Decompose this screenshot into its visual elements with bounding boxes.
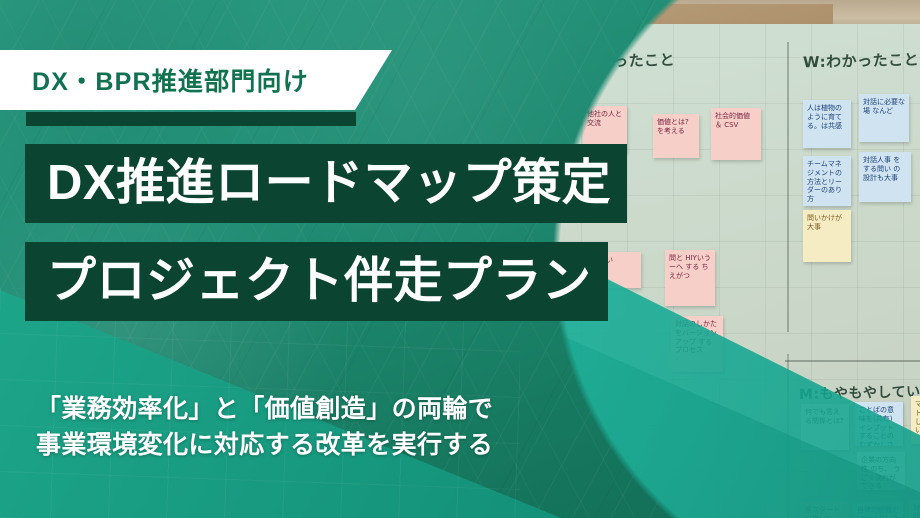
- sticky-note: 問と HIYいうーへ する ちえがつ: [665, 250, 715, 306]
- subtitle: 「業務効率化」と「価値創造」の両輪で 事業環境変化に対応する改革を実行する: [36, 392, 493, 463]
- sticky-note: 何でも言える関係とは?: [801, 404, 849, 450]
- board-section-header-m: M:もやもやしていること: [799, 380, 920, 404]
- title-line2: プロジェクト伴走プラン: [25, 257, 608, 306]
- sticky-note: チームマネジメントの方法とリーダーのあり方: [803, 156, 851, 206]
- sticky-note: 社会的価値 ＆ CSV: [711, 108, 761, 160]
- sticky-note: マネジメントの大変さしか感じない: [911, 396, 920, 444]
- board-section-header-y: Y:やったこと: [581, 49, 676, 72]
- subtitle-line1: 「業務効率化」と「価値創造」の両輪で: [36, 392, 493, 428]
- board-divider-vertical: [787, 42, 789, 332]
- eyebrow-badge: DX・BPR推進部門向け: [0, 50, 392, 110]
- sticky-note: 対話で何を問う?: [909, 500, 920, 518]
- subtitle-line2: 事業環境変化に対応する改革を実行する: [36, 428, 493, 464]
- sticky-note: 問いかけが大事: [803, 210, 851, 262]
- sticky-note: 価値とは? を考える: [653, 114, 699, 158]
- sticky-note: 人は植物のように育てる。は共感: [803, 100, 851, 148]
- sticky-note: 対話人事 をする問い の設計も大事: [859, 152, 911, 202]
- board-divider-horizontal: [785, 360, 920, 362]
- slide-root: Y:やったこと W:わかったこと M:もやもやしていること 他社の人と交流 価値…: [0, 0, 920, 518]
- sticky-note: 対話に必要な場 なんど: [859, 94, 909, 142]
- sticky-note: 自律的組織だけではないあり方は?: [853, 502, 903, 518]
- sticky-note: 対話のしかた をバージョンアップ するプロセス: [671, 316, 723, 372]
- eyebrow-label: DX・BPR推進部門向け: [0, 62, 309, 98]
- title-band-line1: DX推進ロードマップ策定: [25, 144, 627, 223]
- title-band-line2: プロジェクト伴走プラン: [25, 242, 608, 321]
- title-line1: DX推進ロードマップ策定: [25, 159, 627, 208]
- sticky-note: ことばの意味を(共有)インプットすることのむずかしさ: [855, 402, 903, 446]
- sticky-note: 企業の方向性 のち、 うごく流れができる: [857, 452, 905, 490]
- board-section-header-w: W:わかったこと: [803, 49, 920, 73]
- board-divider-vertical-lower: [787, 354, 789, 518]
- eyebrow-underline-bar: [26, 112, 356, 126]
- sticky-note: 誰スタートが良い?: [801, 502, 849, 518]
